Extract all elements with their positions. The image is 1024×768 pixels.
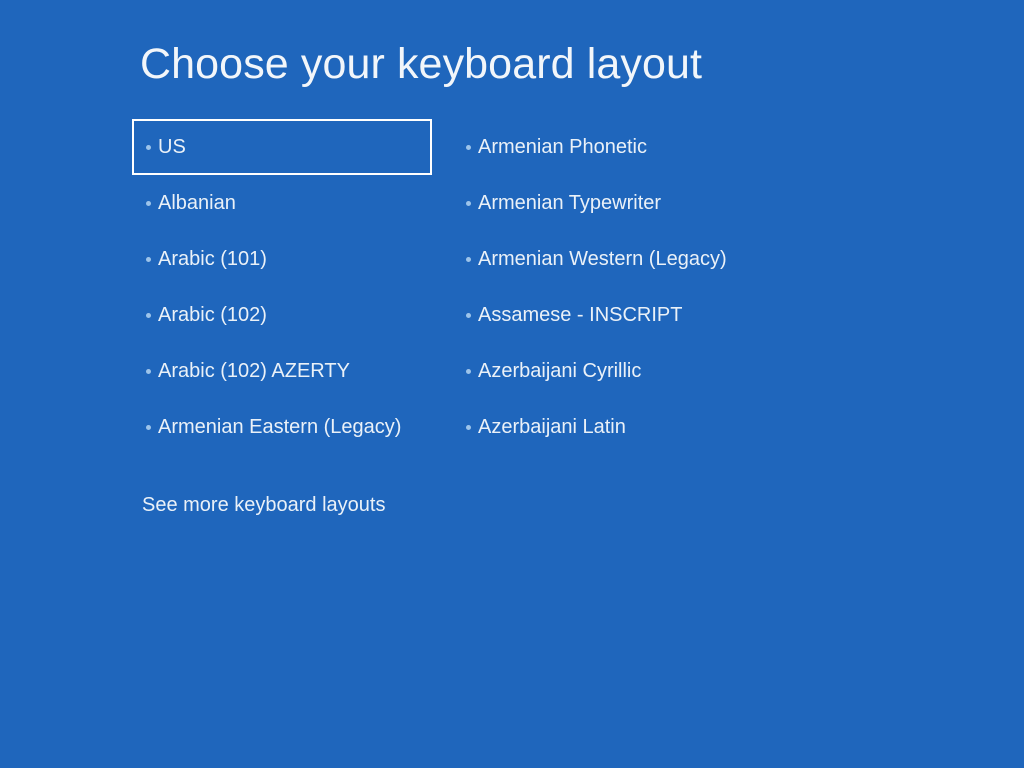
bullet-dot-icon (466, 257, 471, 262)
bullet-dot-icon (146, 145, 151, 150)
keyboard-layout-option[interactable]: Azerbaijani Latin (452, 399, 772, 455)
bullet-dot-icon (466, 369, 471, 374)
keyboard-layout-option[interactable]: Arabic (102) (132, 287, 432, 343)
keyboard-layout-option[interactable]: Assamese - INSCRIPT (452, 287, 772, 343)
keyboard-layout-option-label: Arabic (102) (158, 303, 267, 327)
keyboard-layout-option[interactable]: Azerbaijani Cyrillic (452, 343, 772, 399)
bullet-dot-icon (146, 257, 151, 262)
keyboard-layout-screen: Choose your keyboard layout USAlbanianAr… (0, 0, 1024, 768)
keyboard-layout-option[interactable]: Armenian Eastern (Legacy) (132, 399, 432, 455)
keyboard-layout-option[interactable]: Armenian Phonetic (452, 119, 772, 175)
bullet-dot-icon (146, 369, 151, 374)
keyboard-layout-option-label: Albanian (158, 191, 236, 215)
bullet-dot-icon (146, 201, 151, 206)
keyboard-layout-column-left: USAlbanianArabic (101)Arabic (102)Arabic… (132, 119, 432, 455)
bullet-dot-icon (466, 313, 471, 318)
keyboard-layout-option[interactable]: US (132, 119, 432, 175)
keyboard-layout-option[interactable]: Arabic (101) (132, 231, 432, 287)
keyboard-layout-option-label: Armenian Western (Legacy) (478, 247, 727, 271)
keyboard-layout-column-right: Armenian PhoneticArmenian TypewriterArme… (452, 119, 772, 455)
keyboard-layout-option-label: Azerbaijani Cyrillic (478, 359, 641, 383)
bullet-dot-icon (146, 313, 151, 318)
keyboard-layout-option-label: Azerbaijani Latin (478, 415, 626, 439)
see-more-keyboard-layouts-link[interactable]: See more keyboard layouts (142, 493, 385, 517)
bullet-dot-icon (466, 145, 471, 150)
keyboard-layout-option[interactable]: Albanian (132, 175, 432, 231)
keyboard-layout-option-label: US (158, 135, 186, 159)
keyboard-layout-option[interactable]: Arabic (102) AZERTY (132, 343, 432, 399)
keyboard-layout-option-label: Arabic (101) (158, 247, 267, 271)
bullet-dot-icon (466, 425, 471, 430)
keyboard-layout-option-label: Arabic (102) AZERTY (158, 359, 350, 383)
keyboard-layout-option-label: Armenian Eastern (Legacy) (158, 415, 401, 439)
keyboard-layout-option[interactable]: Armenian Western (Legacy) (452, 231, 772, 287)
bullet-dot-icon (466, 201, 471, 206)
keyboard-layout-option[interactable]: Armenian Typewriter (452, 175, 772, 231)
keyboard-layout-option-label: Armenian Typewriter (478, 191, 661, 215)
bullet-dot-icon (146, 425, 151, 430)
keyboard-layout-option-label: Armenian Phonetic (478, 135, 647, 159)
keyboard-layout-option-label: Assamese - INSCRIPT (478, 303, 682, 327)
page-title: Choose your keyboard layout (140, 38, 702, 90)
